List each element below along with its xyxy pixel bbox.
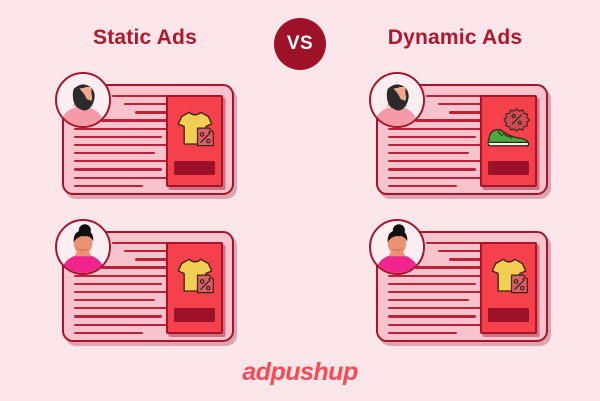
ad-panel[interactable] [166, 242, 223, 334]
woman-bun-avatar-icon [371, 221, 423, 273]
text-line [388, 177, 484, 179]
text-line [135, 258, 170, 260]
text-line [74, 275, 170, 277]
text-line [388, 332, 457, 334]
bearded-man-avatar-icon [57, 74, 109, 126]
text-line [388, 299, 469, 301]
text-line [74, 332, 143, 334]
avatar-woman-bun [55, 219, 111, 275]
text-line [74, 283, 162, 285]
text-line [388, 275, 484, 277]
text-line [74, 144, 170, 146]
percent-starburst-icon [503, 109, 528, 131]
tshirt-icon [484, 255, 534, 297]
text-line [124, 250, 170, 252]
text-line [388, 283, 476, 285]
text-line [388, 152, 469, 154]
static-ads-title: Static Ads [0, 26, 290, 50]
ad-panel[interactable] [480, 242, 537, 334]
ad-creative-green-sneaker [482, 102, 535, 156]
text-line [74, 291, 170, 293]
ad-creative-yellow-tshirt [482, 249, 535, 303]
tshirt-icon [170, 108, 220, 150]
text-line [74, 299, 155, 301]
text-line [74, 307, 170, 309]
text-line [74, 315, 162, 317]
text-line [74, 324, 170, 326]
percent-price-tag-icon [197, 128, 213, 146]
text-line [135, 111, 170, 113]
text-line [101, 266, 170, 268]
text-line [438, 103, 484, 105]
text-line [112, 95, 170, 97]
ad-cta-bar[interactable] [174, 308, 215, 322]
text-line [388, 144, 484, 146]
text-line [449, 258, 484, 260]
adpushup-logo: adpushup [0, 358, 600, 387]
text-line [388, 160, 484, 162]
text-line [388, 168, 476, 170]
text-line [74, 185, 143, 187]
text-line [388, 315, 476, 317]
ad-cta-bar[interactable] [488, 308, 529, 322]
avatar-bearded-man [55, 72, 111, 128]
bearded-man-avatar-icon [371, 74, 423, 126]
sneaker-icon [483, 107, 535, 151]
text-line [74, 128, 170, 130]
text-line [101, 119, 170, 121]
text-line [124, 103, 170, 105]
text-line [449, 111, 484, 113]
text-line [388, 185, 457, 187]
text-line [74, 168, 162, 170]
percent-price-tag-icon [197, 275, 213, 293]
text-line [426, 95, 484, 97]
avatar-bearded-man [369, 72, 425, 128]
ad-creative-yellow-tshirt [168, 249, 221, 303]
text-line [74, 177, 170, 179]
woman-bun-avatar-icon [57, 221, 109, 273]
infographic-stage: Static Ads VS Dynamic Ads [0, 0, 600, 401]
text-line [74, 152, 155, 154]
text-line [388, 136, 476, 138]
ad-creative-yellow-tshirt [168, 102, 221, 156]
text-line [112, 242, 170, 244]
text-line [388, 128, 484, 130]
header: Static Ads VS Dynamic Ads [0, 0, 600, 72]
ad-panel[interactable] [480, 95, 537, 187]
avatar-woman-bun [369, 219, 425, 275]
text-line [74, 136, 162, 138]
text-line [388, 291, 484, 293]
text-line [426, 242, 484, 244]
text-line [415, 119, 484, 121]
text-line [388, 307, 484, 309]
tshirt-icon [170, 255, 220, 297]
text-line [388, 324, 484, 326]
dynamic-ads-title: Dynamic Ads [310, 26, 600, 50]
text-line [415, 266, 484, 268]
percent-price-tag-icon [511, 275, 527, 293]
text-line [438, 250, 484, 252]
text-line [74, 160, 170, 162]
ad-cta-bar[interactable] [488, 161, 529, 175]
ad-cta-bar[interactable] [174, 161, 215, 175]
ad-panel[interactable] [166, 95, 223, 187]
